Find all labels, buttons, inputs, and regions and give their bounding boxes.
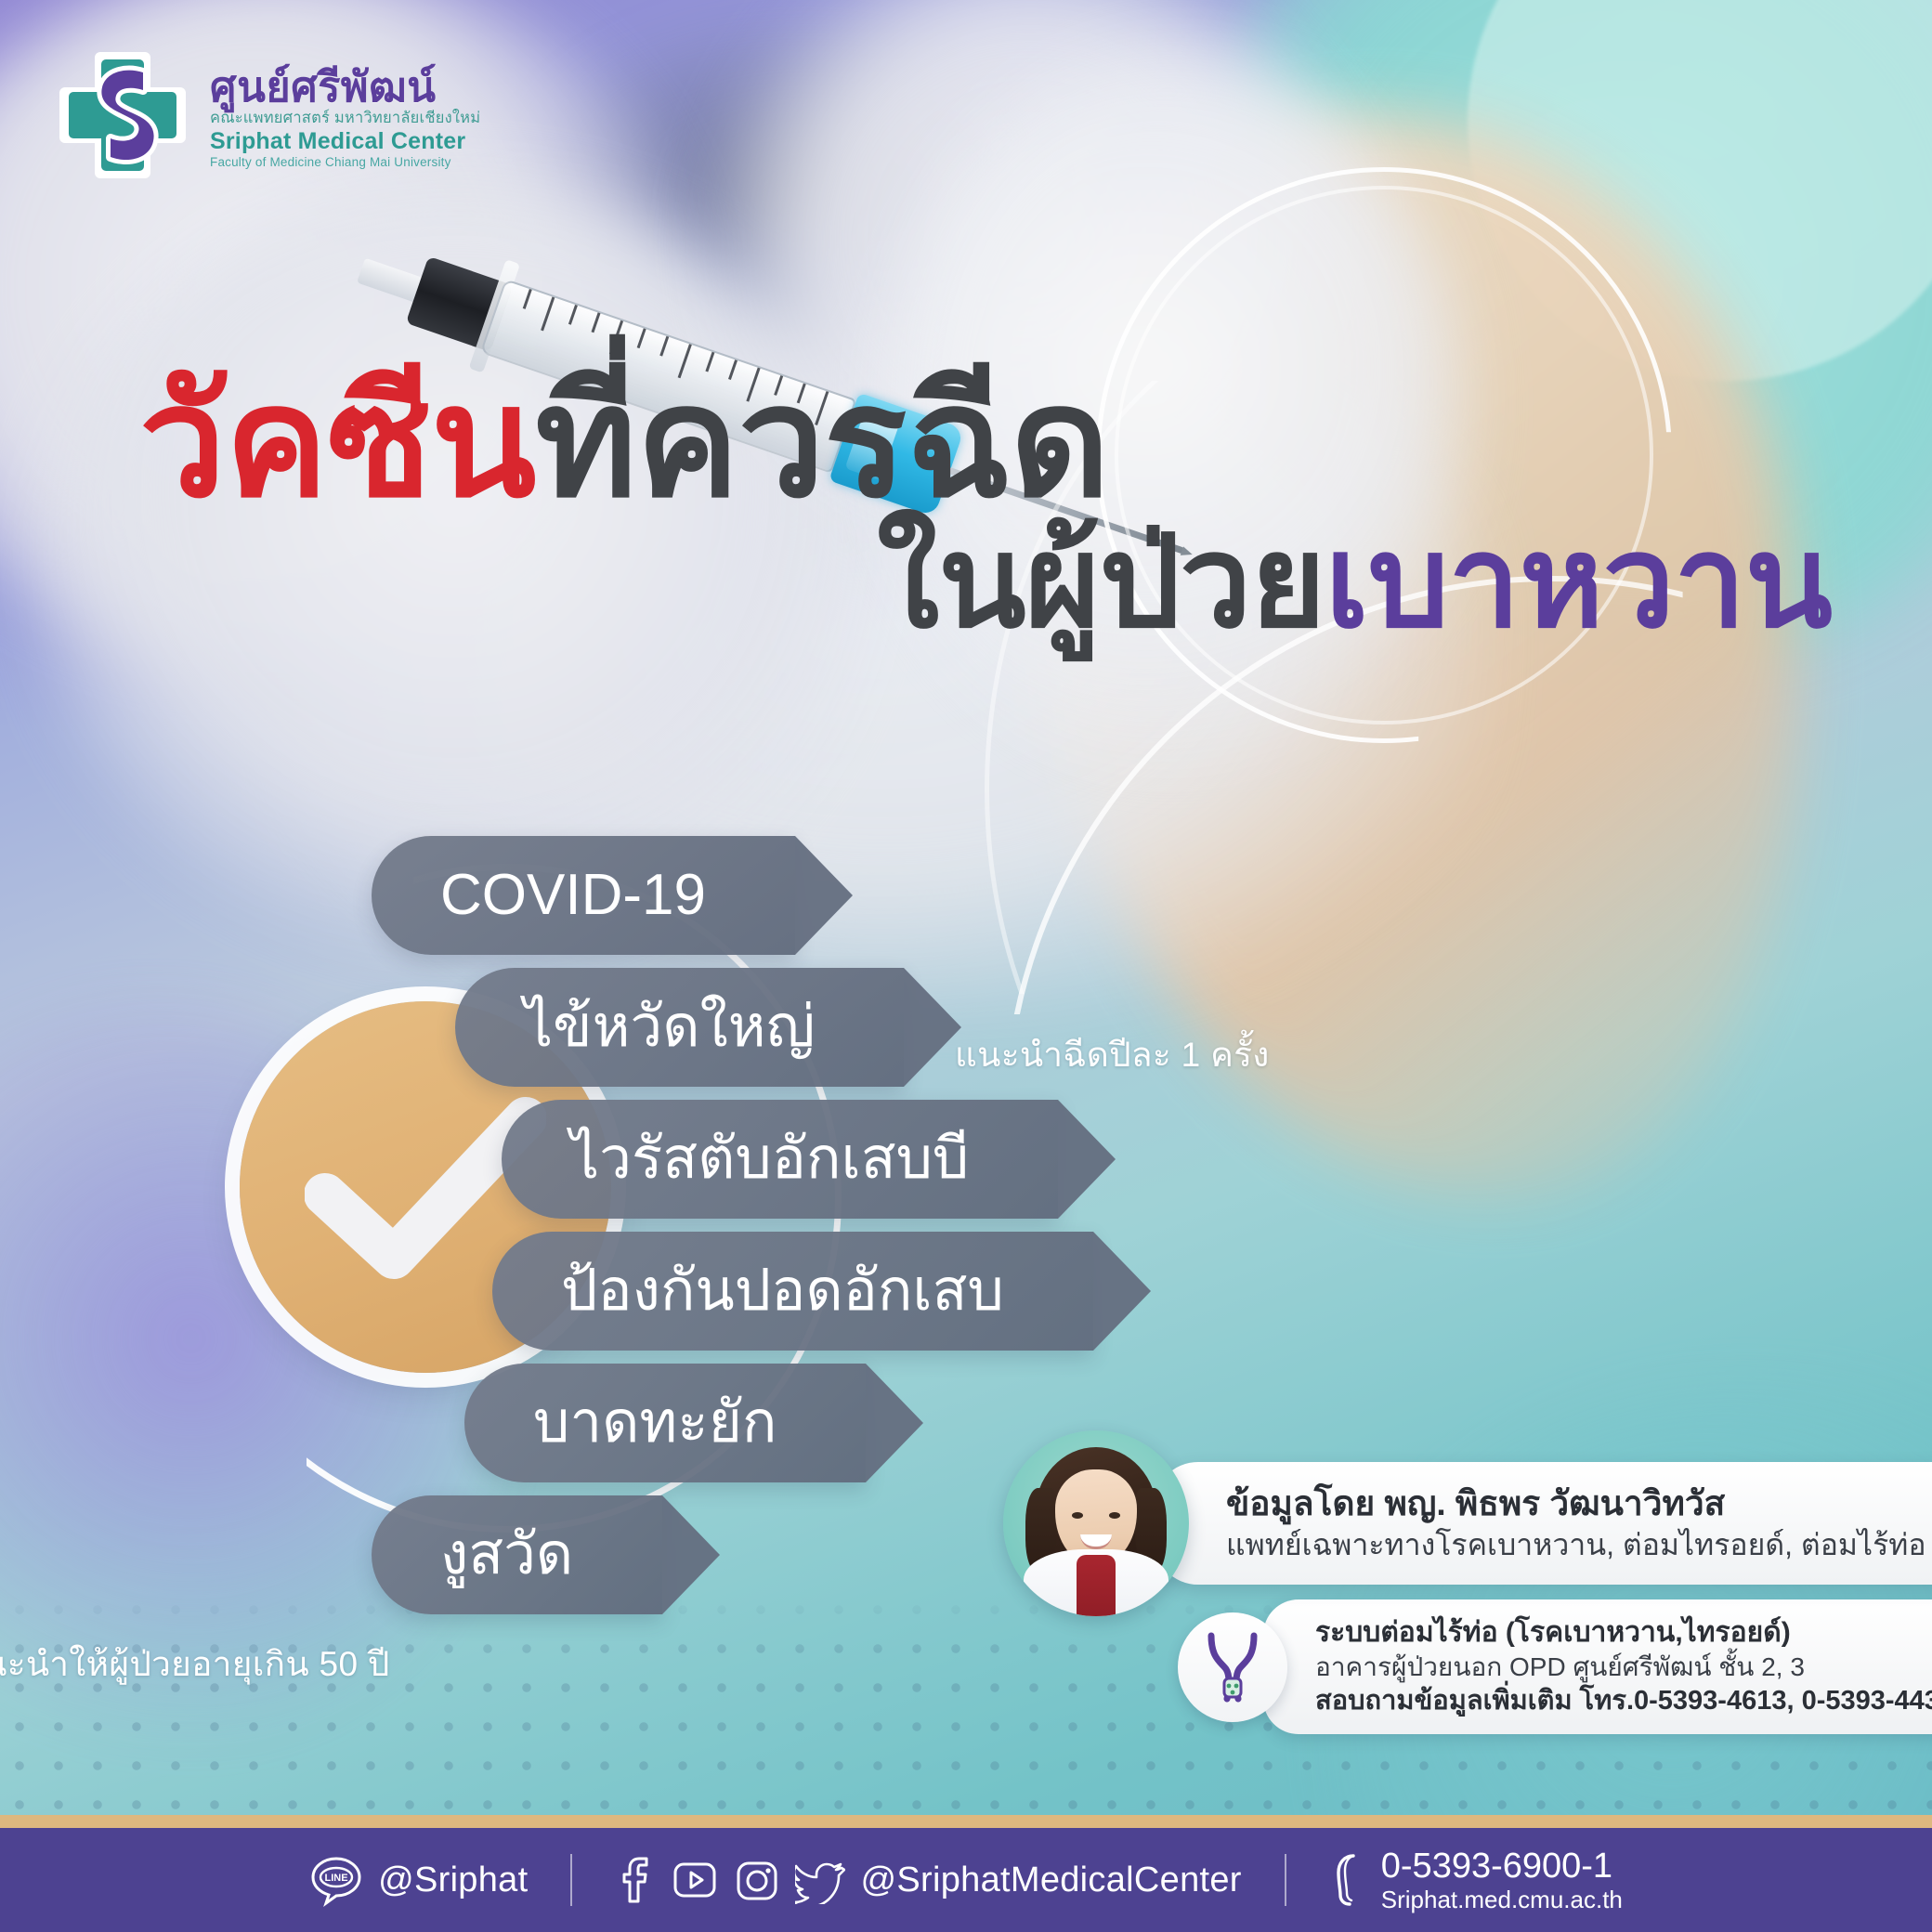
- twitter-icon[interactable]: [795, 1856, 845, 1904]
- department-text-panel: ระบบต่อมไร้ท่อ (โรคเบาหวาน,ไทรอยด์) อาคา…: [1263, 1599, 1932, 1734]
- vaccine-pill-covid[interactable]: COVID-19: [372, 836, 795, 955]
- list-item: ป้องกันปอดอักเสบ: [0, 1232, 1207, 1351]
- avatar: [1003, 1430, 1189, 1616]
- doctor-text-panel: ข้อมูลโดย พญ. พิธพร วัฒนาวิทวัส แพทย์เฉพ…: [1154, 1462, 1932, 1585]
- thyroid-gland-icon: [1178, 1612, 1287, 1722]
- instagram-icon[interactable]: [734, 1856, 780, 1904]
- youtube-icon[interactable]: [671, 1856, 719, 1904]
- vaccine-pill-influenza[interactable]: ไข้หวัดใหญ่: [455, 968, 904, 1087]
- headline-word-diabetes: เบาหวาน: [1325, 511, 1832, 654]
- list-item: COVID-19: [0, 836, 1207, 955]
- headline-word-recommended: ที่ควรฉีด: [535, 357, 1109, 529]
- phone-number: 0-5393-6900-1: [1381, 1847, 1623, 1886]
- line-handle: @Sriphat: [378, 1860, 528, 1900]
- footer-divider-1: [570, 1854, 572, 1906]
- doctor-eye-left: [1072, 1512, 1083, 1519]
- headline-line-1: วัคซีนที่ควรฉีด: [0, 364, 1932, 521]
- headline-line-2: ในผู้ป่วยเบาหวาน: [0, 516, 1932, 650]
- vaccine-pill-hepatitis-b[interactable]: ไวรัสตับอักเสบบี: [502, 1100, 1058, 1219]
- doctor-specialty: แพทย์เฉพาะทางโรคเบาหวาน, ต่อมไทรอยด์, ต่…: [1226, 1526, 1926, 1564]
- svg-text:LINE: LINE: [325, 1873, 348, 1884]
- logo-thai-name: ศูนย์ศรีพัฒน์: [210, 66, 480, 108]
- department-location: อาคารผู้ป่วยนอก OPD ศูนย์ศรีพัฒน์ ชั้น 2…: [1315, 1651, 1932, 1684]
- infographic-poster: ศูนย์ศรีพัฒน์ คณะแพทยศาสตร์ มหาวิทยาลัยเ…: [0, 0, 1932, 1932]
- footer-contact-group[interactable]: 0-5393-6900-1 Sriphat.med.cmu.ac.th: [1329, 1847, 1623, 1913]
- doctor-name: ข้อมูลโดย พญ. พิธพร วัฒนาวิทวัส: [1226, 1482, 1926, 1526]
- headline-word-vaccine: วัคซีน: [139, 357, 535, 529]
- vaccine-note-shingles: แนะนำให้ผู้ป่วยอายุเกิน 50 ปี: [0, 1637, 390, 1691]
- footer-line-group[interactable]: LINE @Sriphat: [309, 1853, 528, 1907]
- contact-block: 0-5393-6900-1 Sriphat.med.cmu.ac.th: [1381, 1847, 1623, 1913]
- page-title: วัคซีนที่ควรฉีด ในผู้ป่วยเบาหวาน: [0, 364, 1932, 650]
- doctor-lab-coat: [1024, 1549, 1168, 1616]
- vaccine-pill-pneumonia[interactable]: ป้องกันปอดอักเสบ: [492, 1232, 1093, 1351]
- facebook-icon[interactable]: [615, 1856, 656, 1904]
- list-item: ไข้หวัดใหญ่ แนะนำฉีดปีละ 1 ครั้ง: [0, 968, 1207, 1087]
- vaccine-pill-tetanus[interactable]: บาดทะยัก: [464, 1364, 866, 1482]
- department-info-card: ระบบต่อมไร้ท่อ (โรคเบาหวาน,ไทรอยด์) อาคา…: [1178, 1599, 1932, 1734]
- website-url: Sriphat.med.cmu.ac.th: [1381, 1886, 1623, 1913]
- list-item: ไวรัสตับอักเสบบี: [0, 1100, 1207, 1219]
- doctor-eye-right: [1109, 1512, 1120, 1519]
- brand-logo-text: ศูนย์ศรีพัฒน์ คณะแพทยศาสตร์ มหาวิทยาลัยเ…: [210, 62, 480, 169]
- phone-icon: [1329, 1850, 1366, 1910]
- logo-english-name: Sriphat Medical Center: [210, 130, 480, 153]
- vaccine-note-influenza: แนะนำฉีดปีละ 1 ครั้ง: [955, 1027, 1270, 1082]
- gold-accent-bar: [0, 1815, 1932, 1828]
- doctor-smile: [1080, 1534, 1112, 1549]
- department-title: ระบบต่อมไร้ท่อ (โรคเบาหวาน,ไทรอยด์): [1315, 1614, 1932, 1651]
- footer-social-group[interactable]: @SriphatMedicalCenter: [615, 1856, 1241, 1904]
- footer-divider-2: [1285, 1854, 1286, 1906]
- line-icon: LINE: [309, 1853, 363, 1907]
- doctor-info-card: ข้อมูลโดย พญ. พิธพร วัฒนาวิทวัส แพทย์เฉพ…: [1003, 1430, 1932, 1616]
- logo-english-subtitle: Faculty of Medicine Chiang Mai Universit…: [210, 156, 480, 169]
- social-handle: @SriphatMedicalCenter: [860, 1860, 1241, 1900]
- logo-thai-subtitle: คณะแพทยศาสตร์ มหาวิทยาลัยเชียงใหม่: [210, 111, 480, 126]
- headline-word-in-patients: ในผู้ป่วย: [877, 511, 1325, 654]
- sriphat-cross-s-logo-icon: [52, 45, 193, 186]
- vaccine-pill-shingles[interactable]: งูสวัด: [372, 1495, 662, 1614]
- footer-bar: LINE @Sriphat: [0, 1828, 1932, 1932]
- department-contact: สอบถามข้อมูลเพิ่มเติม โทร.0-5393-4613, 0…: [1315, 1684, 1932, 1719]
- brand-logo[interactable]: ศูนย์ศรีพัฒน์ คณะแพทยศาสตร์ มหาวิทยาลัยเ…: [52, 45, 480, 186]
